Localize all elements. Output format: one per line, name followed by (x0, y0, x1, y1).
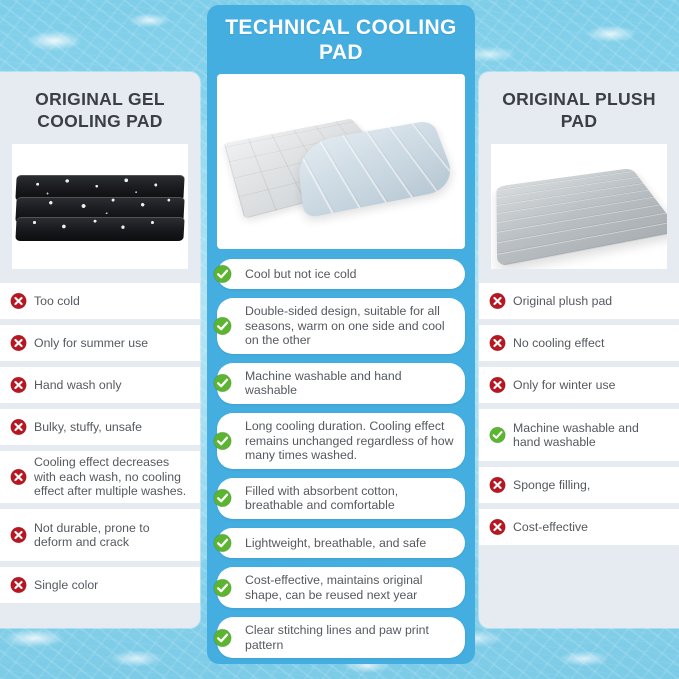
check-icon (213, 533, 232, 552)
feature-text: Cost-effective, maintains original shape… (217, 567, 465, 608)
feature-row: Cooling effect decreases with each wash,… (0, 451, 200, 503)
center-product-column: TECHNICAL COOLING PAD Cool but not ice c… (207, 5, 475, 664)
check-icon (213, 316, 232, 335)
feature-text: Machine washable and hand washable (479, 421, 679, 450)
cross-icon (10, 527, 27, 544)
feature-row: Sponge filling, (479, 467, 679, 503)
check-icon (213, 489, 232, 508)
feature-row: Only for winter use (479, 367, 679, 403)
cross-icon (10, 419, 27, 436)
cross-icon (489, 477, 506, 494)
check-icon (213, 374, 232, 393)
center-product-image (217, 74, 465, 249)
cross-icon (10, 577, 27, 594)
cross-icon (10, 469, 27, 486)
feature-text: Cooling effect decreases with each wash,… (0, 455, 200, 498)
gel-pad-illustration (12, 161, 188, 253)
feature-row: No cooling effect (479, 325, 679, 361)
feature-text: Machine washable and hand washable (217, 363, 465, 404)
feature-row: Cost-effective, maintains original shape… (217, 567, 465, 608)
cross-icon (10, 335, 27, 352)
cross-icon (489, 335, 506, 352)
right-product-column: ORIGINAL PLUSH PAD Original plush padNo … (479, 72, 679, 628)
feature-text: Double-sided design, suitable for all se… (217, 298, 465, 354)
feature-text: Filled with absorbent cotton, breathable… (217, 478, 465, 519)
feature-text: Cool but not ice cold (217, 261, 366, 288)
feature-text: Clear stitching lines and paw print patt… (217, 617, 465, 658)
right-product-image (491, 144, 667, 269)
left-product-column: ORIGINAL GEL COOLING PAD Too coldOnly fo… (0, 72, 200, 628)
left-feature-list: Too coldOnly for summer useHand wash onl… (0, 283, 200, 603)
feature-row: Original plush pad (479, 283, 679, 319)
check-icon (213, 265, 232, 284)
cross-icon (489, 519, 506, 536)
feature-row: Clear stitching lines and paw print patt… (217, 617, 465, 658)
feature-row: Cost-effective (479, 509, 679, 545)
comparison-infographic: ORIGINAL GEL COOLING PAD Too coldOnly fo… (0, 0, 679, 679)
left-product-image (12, 144, 188, 269)
left-column-title: ORIGINAL GEL COOLING PAD (0, 72, 200, 142)
check-icon (489, 427, 506, 444)
feature-row: Hand wash only (0, 367, 200, 403)
feature-row: Too cold (0, 283, 200, 319)
feature-row: Not durable, prone to deform and crack (0, 509, 200, 561)
plush-pad-illustration (499, 151, 659, 263)
check-icon (213, 431, 232, 450)
cross-icon (10, 377, 27, 394)
right-column-title: ORIGINAL PLUSH PAD (479, 72, 679, 142)
feature-row: Double-sided design, suitable for all se… (217, 298, 465, 354)
center-column-title: TECHNICAL COOLING PAD (207, 5, 475, 74)
feature-row: Single color (0, 567, 200, 603)
feature-row: Only for summer use (0, 325, 200, 361)
feature-text: Long cooling duration. Cooling effect re… (217, 413, 465, 469)
right-feature-list: Original plush padNo cooling effectOnly … (479, 283, 679, 545)
feature-row: Cool but not ice cold (217, 259, 465, 289)
feature-row: Machine washable and hand washable (479, 409, 679, 461)
feature-row: Filled with absorbent cotton, breathable… (217, 478, 465, 519)
cross-icon (489, 293, 506, 310)
feature-text: Lightweight, breathable, and safe (217, 530, 436, 557)
feature-text: Not durable, prone to deform and crack (0, 521, 200, 550)
feature-row: Lightweight, breathable, and safe (217, 528, 465, 558)
cross-icon (489, 377, 506, 394)
cooling-pad-illustration (229, 87, 454, 237)
cross-icon (10, 293, 27, 310)
check-icon (213, 578, 232, 597)
center-feature-list: Cool but not ice coldDouble-sided design… (217, 259, 465, 658)
feature-row: Machine washable and hand washable (217, 363, 465, 404)
check-icon (213, 628, 232, 647)
feature-row: Bulky, stuffy, unsafe (0, 409, 200, 445)
feature-row: Long cooling duration. Cooling effect re… (217, 413, 465, 469)
